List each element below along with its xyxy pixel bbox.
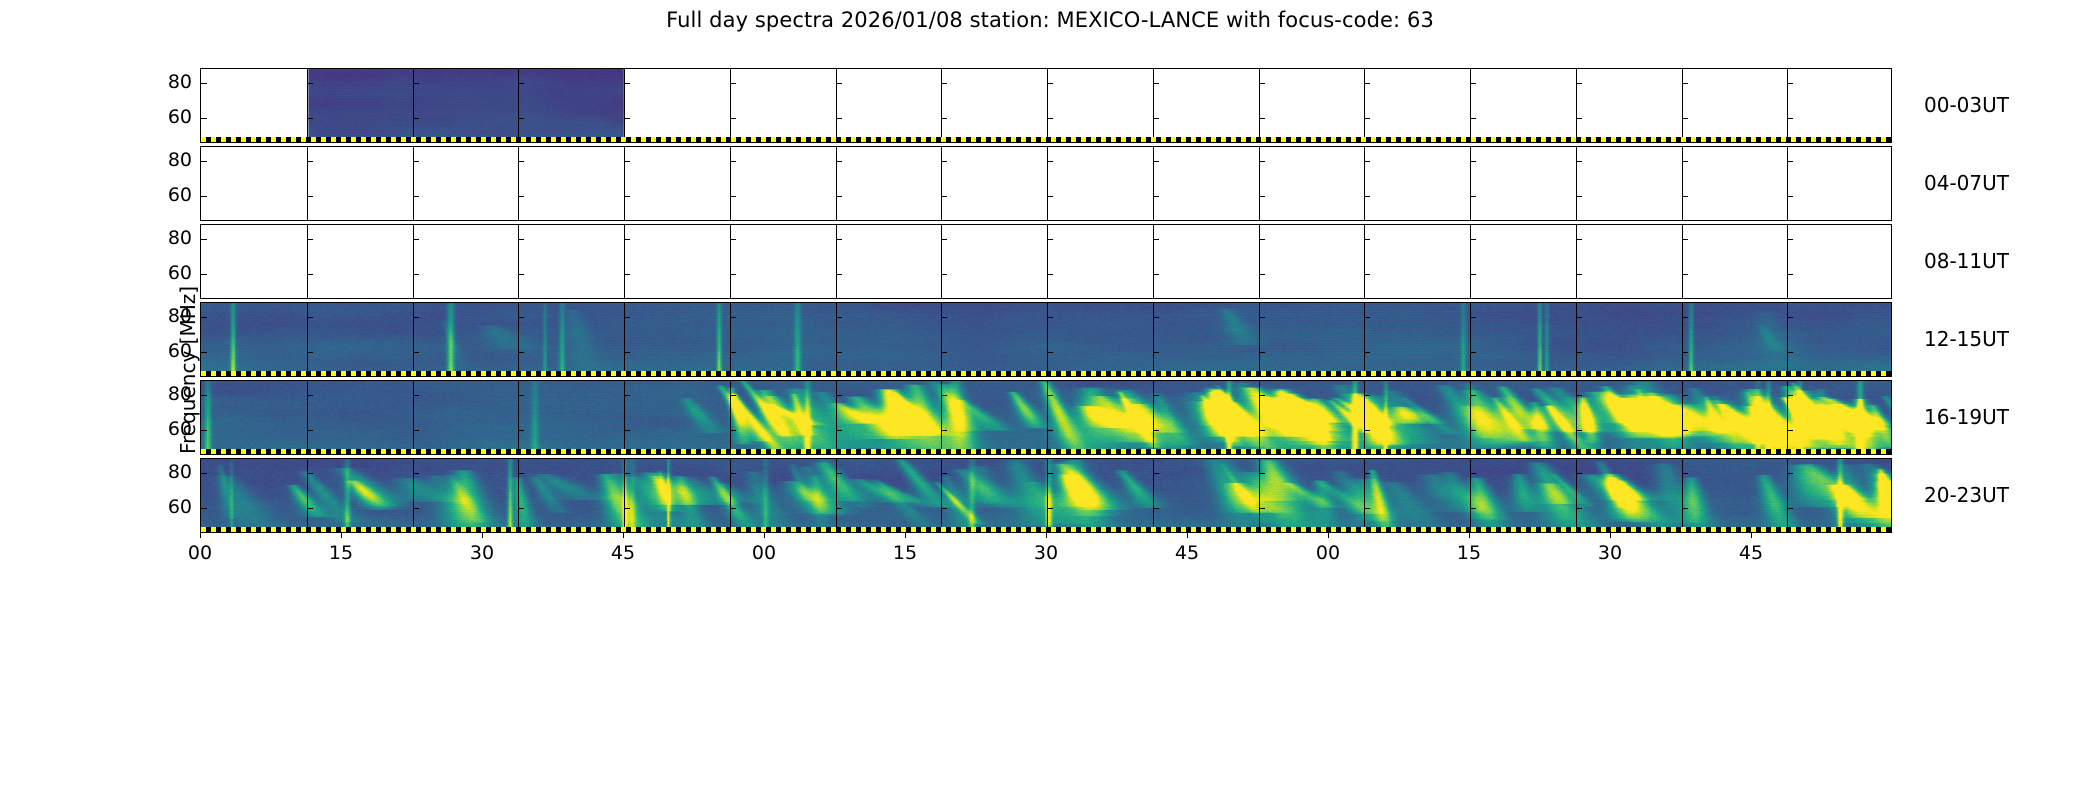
y-tick-mark	[1259, 239, 1265, 240]
y-tick-mark	[1364, 83, 1370, 84]
panel-segment-divider	[518, 225, 519, 298]
panel-segment-divider	[1470, 69, 1471, 142]
y-tick-mark	[1259, 118, 1265, 119]
y-tick-mark	[1364, 508, 1370, 509]
x-tick-label: 15	[311, 542, 371, 564]
y-tick-label: 80	[148, 461, 192, 483]
y-tick-mark	[307, 83, 313, 84]
panel-segment-divider	[1787, 147, 1788, 220]
y-tick-mark	[624, 352, 630, 353]
data-availability-marker	[201, 137, 1891, 142]
x-tick-label: 45	[593, 542, 653, 564]
y-tick-mark	[307, 161, 313, 162]
panel-segment-divider	[307, 225, 308, 298]
y-tick-mark	[307, 352, 313, 353]
panel-segment-divider	[1259, 381, 1260, 454]
y-tick-mark	[730, 395, 736, 396]
y-tick-mark	[201, 352, 207, 353]
y-tick-mark	[1364, 161, 1370, 162]
y-tick-mark	[1682, 473, 1688, 474]
y-tick-mark	[201, 395, 207, 396]
panel-row-label: 20-23UT	[1924, 483, 2009, 507]
y-tick-mark	[518, 274, 524, 275]
panel-segment-divider	[1364, 69, 1365, 142]
y-tick-mark	[1682, 161, 1688, 162]
y-tick-label: 60	[148, 106, 192, 128]
y-tick-mark	[941, 508, 947, 509]
y-tick-mark	[1047, 161, 1053, 162]
y-tick-mark	[1470, 118, 1476, 119]
y-tick-mark	[1047, 83, 1053, 84]
y-tick-mark	[201, 239, 207, 240]
panel-segment-divider	[1470, 147, 1471, 220]
x-tick-label: 00	[734, 542, 794, 564]
y-tick-mark	[518, 473, 524, 474]
y-tick-mark	[836, 118, 842, 119]
y-tick-label: 60	[148, 496, 192, 518]
y-tick-mark	[307, 196, 313, 197]
y-tick-mark	[730, 430, 736, 431]
y-tick-mark	[1576, 274, 1582, 275]
panel-segment-divider	[1047, 147, 1048, 220]
y-tick-mark	[836, 161, 842, 162]
y-tick-mark	[941, 473, 947, 474]
panel-segment-divider	[836, 147, 837, 220]
panel-segment-divider	[730, 147, 731, 220]
y-tick-mark	[413, 196, 419, 197]
panel-segment-divider	[307, 69, 308, 142]
spectrogram-panel-20-23ut[interactable]	[200, 458, 1892, 533]
panel-segment-divider	[1047, 69, 1048, 142]
y-tick-mark	[730, 473, 736, 474]
x-tick-label: 30	[1580, 542, 1640, 564]
y-tick-mark	[1682, 395, 1688, 396]
y-tick-mark	[624, 196, 630, 197]
data-availability-marker	[201, 449, 1891, 454]
y-tick-mark	[1153, 508, 1159, 509]
y-tick-mark	[201, 508, 207, 509]
panel-segment-divider	[1682, 69, 1683, 142]
y-tick-mark	[941, 239, 947, 240]
y-tick-mark	[1787, 352, 1793, 353]
y-tick-mark	[836, 317, 842, 318]
panel-segment-divider	[413, 303, 414, 376]
y-tick-mark	[307, 473, 313, 474]
spectrogram-panel-08-11ut[interactable]	[200, 224, 1892, 299]
y-tick-mark	[836, 83, 842, 84]
panel-segment-divider	[836, 381, 837, 454]
y-tick-mark	[624, 161, 630, 162]
y-tick-mark	[1682, 196, 1688, 197]
y-tick-mark	[307, 317, 313, 318]
y-tick-mark	[307, 118, 313, 119]
y-tick-mark	[518, 508, 524, 509]
panel-segment-divider	[941, 303, 942, 376]
y-tick-mark	[518, 352, 524, 353]
x-tick-mark	[1328, 533, 1329, 538]
panel-segment-divider	[624, 69, 625, 142]
panel-segment-divider	[518, 69, 519, 142]
y-tick-mark	[1682, 274, 1688, 275]
y-tick-mark	[730, 196, 736, 197]
y-tick-mark	[413, 317, 419, 318]
y-tick-mark	[1259, 274, 1265, 275]
x-tick-label: 30	[452, 542, 512, 564]
panel-segment-divider	[1153, 225, 1154, 298]
y-tick-mark	[201, 317, 207, 318]
y-tick-mark	[836, 395, 842, 396]
panel-segment-divider	[1787, 69, 1788, 142]
x-tick-mark	[482, 533, 483, 538]
y-tick-mark	[1259, 352, 1265, 353]
y-tick-mark	[201, 161, 207, 162]
y-tick-mark	[1259, 317, 1265, 318]
panel-segment-divider	[730, 381, 731, 454]
y-tick-mark	[1576, 118, 1582, 119]
x-tick-mark	[341, 533, 342, 538]
y-tick-mark	[518, 239, 524, 240]
y-tick-mark	[518, 395, 524, 396]
y-tick-mark	[1682, 239, 1688, 240]
y-tick-mark	[1787, 274, 1793, 275]
panel-segment-divider	[1576, 459, 1577, 532]
y-tick-mark	[1259, 473, 1265, 474]
y-tick-mark	[1153, 161, 1159, 162]
panel-segment-divider	[307, 303, 308, 376]
y-tick-mark	[413, 508, 419, 509]
y-tick-mark	[1682, 430, 1688, 431]
panel-segment-divider	[941, 225, 942, 298]
page-title: Full day spectra 2026/01/08 station: MEX…	[0, 8, 2100, 32]
panel-segment-divider	[1153, 381, 1154, 454]
panel-row-label: 08-11UT	[1924, 249, 2009, 273]
y-tick-mark	[1787, 395, 1793, 396]
y-tick-mark	[518, 196, 524, 197]
y-tick-mark	[1364, 317, 1370, 318]
y-tick-mark	[1047, 317, 1053, 318]
y-tick-mark	[307, 430, 313, 431]
y-tick-mark	[1787, 430, 1793, 431]
y-tick-mark	[201, 83, 207, 84]
y-tick-mark	[1682, 118, 1688, 119]
y-tick-mark	[1153, 395, 1159, 396]
y-tick-mark	[1364, 118, 1370, 119]
y-tick-mark	[201, 118, 207, 119]
y-tick-mark	[941, 274, 947, 275]
x-tick-mark	[1469, 533, 1470, 538]
y-tick-mark	[1153, 239, 1159, 240]
y-tick-mark	[1470, 83, 1476, 84]
y-tick-mark	[1787, 473, 1793, 474]
y-tick-mark	[413, 473, 419, 474]
y-tick-mark	[307, 239, 313, 240]
y-tick-mark	[1259, 83, 1265, 84]
y-tick-mark	[1364, 274, 1370, 275]
y-tick-mark	[1259, 196, 1265, 197]
y-tick-mark	[1047, 196, 1053, 197]
x-tick-label: 30	[1016, 542, 1076, 564]
panel-segment-divider	[730, 69, 731, 142]
panel-segment-divider	[730, 303, 731, 376]
x-tick-mark	[905, 533, 906, 538]
panel-segment-divider	[307, 459, 308, 532]
y-tick-mark	[836, 196, 842, 197]
panel-segment-divider	[1153, 147, 1154, 220]
y-tick-mark	[941, 118, 947, 119]
y-tick-mark	[1470, 430, 1476, 431]
y-tick-mark	[836, 430, 842, 431]
panel-segment-divider	[413, 225, 414, 298]
y-tick-mark	[413, 430, 419, 431]
panel-segment-divider	[941, 459, 942, 532]
y-tick-mark	[1576, 161, 1582, 162]
y-tick-mark	[1470, 274, 1476, 275]
panel-segment-divider	[1470, 381, 1471, 454]
panel-segment-divider	[941, 147, 942, 220]
y-tick-mark	[1576, 83, 1582, 84]
panel-segment-divider	[730, 225, 731, 298]
x-tick-label: 00	[170, 542, 230, 564]
spectrogram-panel-04-07ut[interactable]	[200, 146, 1892, 221]
y-tick-mark	[518, 430, 524, 431]
y-tick-mark	[730, 161, 736, 162]
panel-segment-divider	[1259, 147, 1260, 220]
y-tick-mark	[941, 317, 947, 318]
y-tick-label: 80	[148, 71, 192, 93]
x-tick-mark	[1187, 533, 1188, 538]
y-tick-mark	[836, 274, 842, 275]
data-availability-marker	[201, 527, 1891, 532]
panel-segment-divider	[1787, 303, 1788, 376]
panel-segment-divider	[518, 147, 519, 220]
panel-segment-divider	[1153, 303, 1154, 376]
x-tick-label: 00	[1298, 542, 1358, 564]
y-tick-mark	[941, 352, 947, 353]
panel-segment-divider	[1259, 69, 1260, 142]
y-tick-mark	[941, 430, 947, 431]
panel-segment-divider	[413, 147, 414, 220]
y-tick-mark	[624, 274, 630, 275]
spectrogram-panel-12-15ut[interactable]	[200, 302, 1892, 377]
y-tick-mark	[307, 508, 313, 509]
y-tick-mark	[941, 83, 947, 84]
y-tick-label: 60	[148, 184, 192, 206]
y-tick-mark	[201, 196, 207, 197]
y-tick-mark	[413, 274, 419, 275]
y-tick-mark	[1153, 352, 1159, 353]
y-tick-mark	[624, 395, 630, 396]
y-tick-mark	[201, 473, 207, 474]
y-tick-mark	[624, 430, 630, 431]
y-tick-mark	[624, 473, 630, 474]
y-tick-mark	[413, 83, 419, 84]
panel-segment-divider	[624, 381, 625, 454]
y-tick-mark	[413, 239, 419, 240]
panel-segment-divider	[836, 69, 837, 142]
y-tick-mark	[1470, 508, 1476, 509]
y-tick-mark	[1364, 239, 1370, 240]
y-tick-mark	[1470, 395, 1476, 396]
x-tick-mark	[764, 533, 765, 538]
panel-segment-divider	[1259, 225, 1260, 298]
panel-segment-divider	[1576, 303, 1577, 376]
y-tick-label: 80	[148, 305, 192, 327]
y-tick-mark	[1047, 473, 1053, 474]
y-tick-mark	[413, 352, 419, 353]
panel-segment-divider	[1153, 459, 1154, 532]
panel-segment-divider	[941, 381, 942, 454]
y-tick-mark	[201, 430, 207, 431]
x-tick-mark	[623, 533, 624, 538]
y-tick-mark	[1787, 161, 1793, 162]
y-tick-mark	[518, 161, 524, 162]
y-tick-mark	[941, 161, 947, 162]
panel-segment-divider	[1576, 225, 1577, 298]
y-tick-mark	[1787, 317, 1793, 318]
y-tick-mark	[413, 395, 419, 396]
y-tick-mark	[730, 352, 736, 353]
panel-segment-divider	[1259, 459, 1260, 532]
panel-segment-divider	[1682, 303, 1683, 376]
spectrogram-panel-16-19ut[interactable]	[200, 380, 1892, 455]
y-tick-mark	[1682, 508, 1688, 509]
y-tick-mark	[413, 161, 419, 162]
y-tick-mark	[1470, 352, 1476, 353]
y-tick-mark	[1364, 352, 1370, 353]
y-tick-mark	[518, 118, 524, 119]
panel-segment-divider	[413, 69, 414, 142]
y-tick-mark	[1576, 430, 1582, 431]
panel-segment-divider	[1682, 147, 1683, 220]
y-tick-mark	[624, 239, 630, 240]
y-tick-mark	[1047, 274, 1053, 275]
y-tick-mark	[1364, 430, 1370, 431]
y-tick-mark	[201, 274, 207, 275]
y-tick-mark	[1047, 395, 1053, 396]
y-tick-mark	[1787, 508, 1793, 509]
panel-segment-divider	[1470, 459, 1471, 532]
y-tick-mark	[1576, 239, 1582, 240]
y-tick-mark	[1470, 317, 1476, 318]
y-tick-mark	[518, 317, 524, 318]
y-tick-mark	[1259, 508, 1265, 509]
y-tick-mark	[624, 508, 630, 509]
panel-segment-divider	[1047, 381, 1048, 454]
panel-segment-divider	[1787, 381, 1788, 454]
panel-segment-divider	[413, 459, 414, 532]
panel-row-label: 12-15UT	[1924, 327, 2009, 351]
panel-segment-divider	[1364, 303, 1365, 376]
panel-segment-divider	[836, 459, 837, 532]
x-tick-label: 15	[875, 542, 935, 564]
y-tick-mark	[1576, 352, 1582, 353]
panel-segment-divider	[1364, 459, 1365, 532]
x-tick-mark	[1610, 533, 1611, 538]
panel-segment-divider	[1576, 381, 1577, 454]
panel-segment-divider	[624, 303, 625, 376]
y-tick-mark	[730, 317, 736, 318]
panel-segment-divider	[1682, 225, 1683, 298]
panel-segment-divider	[1787, 459, 1788, 532]
y-tick-mark	[1153, 83, 1159, 84]
panel-segment-divider	[836, 303, 837, 376]
panel-segment-divider	[518, 381, 519, 454]
y-tick-mark	[730, 118, 736, 119]
y-tick-mark	[1470, 473, 1476, 474]
y-tick-mark	[624, 83, 630, 84]
y-tick-mark	[1047, 508, 1053, 509]
panel-segment-divider	[624, 459, 625, 532]
panel-row-label: 04-07UT	[1924, 171, 2009, 195]
y-tick-mark	[1787, 83, 1793, 84]
data-availability-marker	[201, 371, 1891, 376]
x-tick-mark	[1046, 533, 1047, 538]
x-tick-label: 45	[1157, 542, 1217, 564]
panel-segment-divider	[624, 225, 625, 298]
panel-segment-divider	[1259, 303, 1260, 376]
panel-segment-divider	[1576, 69, 1577, 142]
panel-segment-divider	[518, 303, 519, 376]
panel-segment-divider	[1047, 303, 1048, 376]
panel-segment-divider	[413, 381, 414, 454]
y-tick-mark	[1576, 317, 1582, 318]
panel-segment-divider	[941, 69, 942, 142]
y-tick-mark	[624, 317, 630, 318]
panel-segment-divider	[1364, 381, 1365, 454]
x-tick-mark	[1751, 533, 1752, 538]
y-tick-mark	[1153, 430, 1159, 431]
panel-segment-divider	[1576, 147, 1577, 220]
y-tick-mark	[1470, 161, 1476, 162]
y-tick-mark	[1364, 395, 1370, 396]
y-tick-mark	[1576, 473, 1582, 474]
y-tick-mark	[1153, 473, 1159, 474]
panel-segment-divider	[307, 381, 308, 454]
y-tick-mark	[307, 395, 313, 396]
y-tick-mark	[1576, 196, 1582, 197]
x-tick-label: 15	[1439, 542, 1499, 564]
y-tick-mark	[941, 395, 947, 396]
y-tick-mark	[1682, 352, 1688, 353]
panel-segment-divider	[1470, 303, 1471, 376]
y-tick-label: 60	[148, 340, 192, 362]
panel-row-label: 16-19UT	[1924, 405, 2009, 429]
y-tick-mark	[1153, 274, 1159, 275]
y-tick-mark	[1787, 196, 1793, 197]
panel-segment-divider	[1787, 225, 1788, 298]
spectrogram-panel-00-03ut[interactable]	[200, 68, 1892, 143]
y-tick-mark	[836, 508, 842, 509]
y-tick-mark	[1470, 239, 1476, 240]
y-tick-label: 80	[148, 383, 192, 405]
panel-segment-divider	[1364, 147, 1365, 220]
x-tick-label: 45	[1721, 542, 1781, 564]
panel-segment-divider	[1682, 459, 1683, 532]
panel-segment-divider	[1153, 69, 1154, 142]
y-tick-mark	[1047, 430, 1053, 431]
y-tick-mark	[1259, 395, 1265, 396]
y-tick-mark	[1153, 317, 1159, 318]
y-tick-mark	[1470, 196, 1476, 197]
y-tick-mark	[730, 83, 736, 84]
panel-segment-divider	[1364, 225, 1365, 298]
panel-segment-divider	[624, 147, 625, 220]
y-tick-mark	[1682, 83, 1688, 84]
y-tick-mark	[1047, 118, 1053, 119]
y-tick-label: 80	[148, 227, 192, 249]
y-tick-mark	[730, 239, 736, 240]
y-tick-mark	[730, 274, 736, 275]
